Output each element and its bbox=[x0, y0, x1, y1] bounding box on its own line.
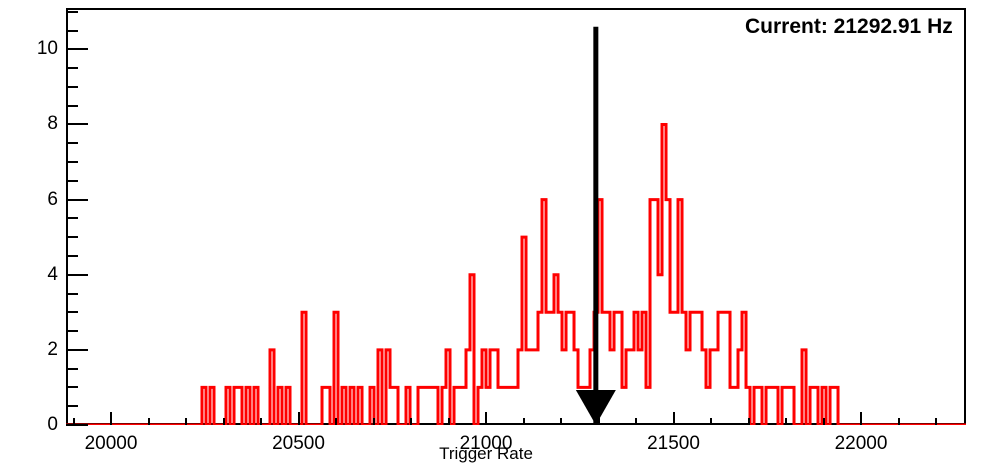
x-axis-tick-major bbox=[673, 412, 675, 425]
x-axis-tick-minor bbox=[748, 418, 750, 425]
current-rate-label: Current: 21292.91 Hz bbox=[745, 15, 953, 39]
x-axis-tick-major bbox=[485, 412, 487, 425]
x-axis-tick-minor bbox=[260, 418, 262, 425]
x-axis-tick-label: 20000 bbox=[85, 433, 138, 455]
x-axis-tick-minor bbox=[335, 418, 337, 425]
x-axis-tick-minor bbox=[523, 418, 525, 425]
x-axis-tick-major bbox=[298, 412, 300, 425]
x-axis-tick-minor bbox=[148, 418, 150, 425]
x-axis-tick-minor bbox=[823, 418, 825, 425]
x-axis-tick-minor bbox=[598, 418, 600, 425]
x-axis-tick-label: 22000 bbox=[835, 433, 888, 455]
x-axis-title: Trigger Rate bbox=[439, 444, 533, 464]
x-axis-tick-minor bbox=[73, 418, 75, 425]
x-axis-tick-minor bbox=[935, 418, 937, 425]
x-axis-tick-minor bbox=[785, 418, 787, 425]
x-axis-tick-minor bbox=[448, 418, 450, 425]
x-axis-tick-minor bbox=[560, 418, 562, 425]
x-axis: 2000020500210002150022000 bbox=[0, 0, 996, 472]
x-axis-tick-minor bbox=[410, 418, 412, 425]
x-axis-tick-minor bbox=[898, 418, 900, 425]
x-axis-tick-minor bbox=[635, 418, 637, 425]
x-axis-tick-major bbox=[860, 412, 862, 425]
x-axis-tick-minor bbox=[373, 418, 375, 425]
x-axis-tick-minor bbox=[710, 418, 712, 425]
x-axis-tick-label: 20500 bbox=[272, 433, 325, 455]
x-axis-tick-minor bbox=[223, 418, 225, 425]
x-axis-tick-minor bbox=[185, 418, 187, 425]
x-axis-tick-major bbox=[110, 412, 112, 425]
x-axis-tick-label: 21500 bbox=[647, 433, 700, 455]
histogram-canvas: 0246810 2000020500210002150022000 Trigge… bbox=[0, 0, 996, 472]
